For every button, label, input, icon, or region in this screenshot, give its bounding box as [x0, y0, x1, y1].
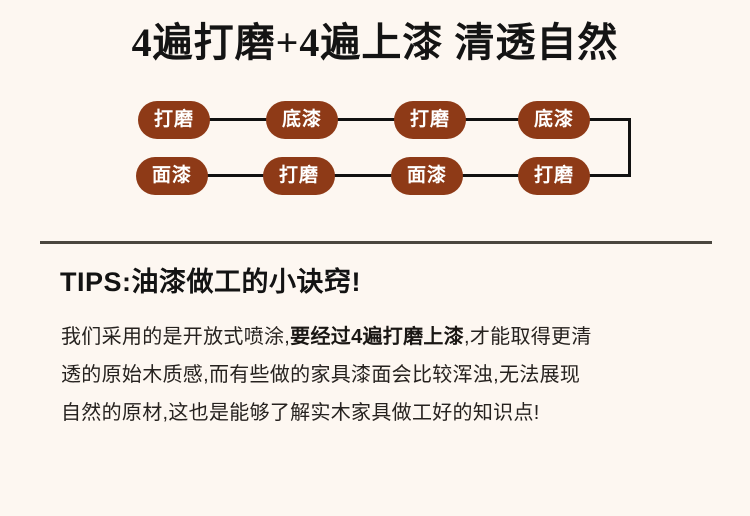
connector-line: [333, 118, 399, 121]
process-node: 底漆: [518, 101, 590, 139]
tips-heading: TIPS:油漆做工的小诀窍!: [60, 264, 361, 300]
connector-line: [461, 118, 523, 121]
process-node: 面漆: [391, 157, 463, 195]
connector-line: [203, 174, 268, 177]
tips-line-1-before: 我们采用的是开放式喷涂,: [61, 326, 290, 348]
connector-line: [330, 174, 396, 177]
page-title: 4遍打磨+4遍上漆 清透自然: [0, 18, 750, 68]
process-node: 打磨: [263, 157, 335, 195]
process-node: 打磨: [518, 157, 590, 195]
wrap-connector-top: [586, 118, 631, 121]
tips-body: 我们采用的是开放式喷涂,要经过4遍打磨上漆,才能取得更清 透的原始木质感,而有些…: [61, 318, 711, 432]
connector-line: [205, 118, 271, 121]
promo-page: 4遍打磨+4遍上漆 清透自然 打磨 底漆 打磨 底漆 面漆 打磨 面漆 打磨: [0, 0, 750, 516]
process-flow-row-2: 面漆 打磨 面漆 打磨: [0, 157, 750, 197]
tips-body-line: 自然的原材,这也是能够了解实木家具做工好的知识点!: [61, 394, 711, 432]
process-flow-diagram: 打磨 底漆 打磨 底漆 面漆 打磨 面漆 打磨: [0, 98, 750, 208]
wrap-connector-bottom: [586, 174, 631, 177]
process-node: 打磨: [138, 101, 210, 139]
tips-body-line: 我们采用的是开放式喷涂,要经过4遍打磨上漆,才能取得更清: [61, 318, 711, 356]
tips-body-line: 透的原始木质感,而有些做的家具漆面会比较浑浊,无法展现: [61, 356, 711, 394]
process-flow-row-1: 打磨 底漆 打磨 底漆: [0, 101, 750, 141]
process-node: 面漆: [136, 157, 208, 195]
section-divider: [40, 241, 712, 244]
wrap-connector-side: [628, 118, 631, 177]
tips-line-1-after: ,才能取得更清: [464, 326, 592, 348]
tips-line-2-before: 透的原始木质感,而有些做的家具漆面会比较浑浊,无法展现: [61, 364, 580, 386]
connector-line: [458, 174, 523, 177]
tips-line-1-bold: 要经过4遍打磨上漆: [290, 326, 464, 348]
process-node: 底漆: [266, 101, 338, 139]
tips-line-3-before: 自然的原材,这也是能够了解实木家具做工好的知识点!: [61, 402, 540, 424]
process-node: 打磨: [394, 101, 466, 139]
